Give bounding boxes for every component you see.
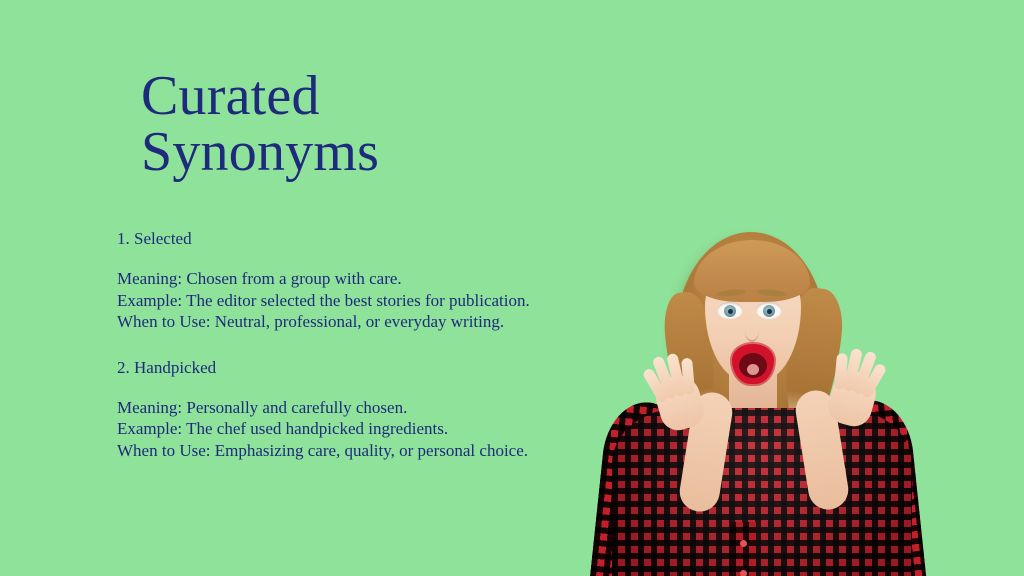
entry-meaning: Meaning: Personally and carefully chosen…: [117, 397, 537, 419]
list-item: 2. Handpicked Meaning: Personally and ca…: [117, 357, 537, 462]
iris-left: [724, 305, 736, 317]
synonym-list: 1. Selected Meaning: Chosen from a group…: [117, 228, 537, 461]
finger: [681, 358, 695, 395]
nose: [745, 318, 759, 342]
pupil-left: [728, 309, 733, 314]
spacer: [117, 250, 537, 268]
spacer: [117, 379, 537, 397]
entry-meaning: Meaning: Chosen from a group with care.: [117, 268, 537, 290]
shirt-placket: [730, 522, 756, 576]
surprised-woman-photo: [590, 222, 950, 576]
photo-scene: [590, 222, 950, 576]
iris-right: [763, 305, 775, 317]
entry-example: Example: The editor selected the best st…: [117, 290, 537, 312]
entry-body: Meaning: Personally and carefully chosen…: [117, 397, 537, 462]
list-item: 1. Selected Meaning: Chosen from a group…: [117, 228, 537, 333]
entry-example: Example: The chef used handpicked ingred…: [117, 418, 537, 440]
mouth-interior: [739, 353, 767, 378]
shirt-button: [740, 540, 747, 547]
title-line-1: Curated: [141, 68, 561, 124]
plaid-shirt: [612, 408, 912, 576]
entry-when-to-use: When to Use: Emphasizing care, quality, …: [117, 440, 537, 462]
pupil-right: [767, 309, 772, 314]
shirt-button: [740, 570, 747, 576]
open-mouth: [732, 344, 774, 384]
title-line-2: Synonyms: [141, 124, 561, 180]
eye-right: [756, 302, 782, 319]
eye-left: [717, 302, 743, 319]
entry-body: Meaning: Chosen from a group with care. …: [117, 268, 537, 333]
spacer: [117, 333, 537, 357]
page-title: Curated Synonyms: [141, 68, 561, 180]
entry-heading: 1. Selected: [117, 228, 537, 250]
entry-when-to-use: When to Use: Neutral, professional, or e…: [117, 311, 537, 333]
tongue: [747, 364, 759, 375]
slide-canvas: Curated Synonyms 1. Selected Meaning: Ch…: [0, 0, 1024, 576]
entry-heading: 2. Handpicked: [117, 357, 537, 379]
